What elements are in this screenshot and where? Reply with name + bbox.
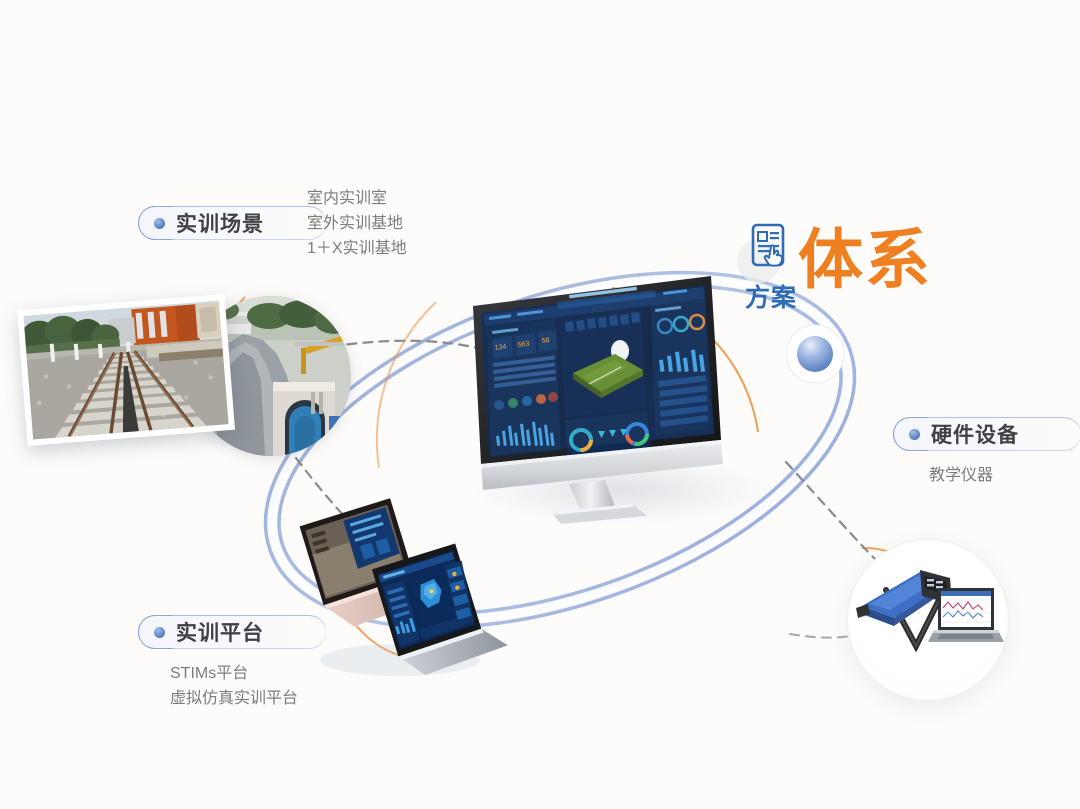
scene-photo-group bbox=[18, 288, 338, 473]
label-group-training-scene: 实训场景 bbox=[138, 206, 326, 240]
sidebar-item-training-scene[interactable]: 实训场景 bbox=[138, 206, 326, 240]
label-text: 实训平台 bbox=[176, 617, 264, 647]
label-text: 硬件设备 bbox=[931, 419, 1019, 449]
orbit-node-sphere bbox=[786, 325, 844, 383]
infographic-stage: 134 563 58 bbox=[0, 0, 1080, 809]
title-main: 体系 bbox=[798, 225, 932, 295]
label-group-training-platform: 实训平台 bbox=[138, 615, 326, 649]
label-text: 实训场景 bbox=[176, 208, 264, 238]
sub-item: 教学仪器 bbox=[929, 463, 993, 488]
sublist-training-scene: 室内实训室 室外实训基地 1＋X实训基地 bbox=[307, 186, 407, 261]
title-prefix: 方案 bbox=[745, 278, 797, 314]
sidebar-item-hardware-device[interactable]: 硬件设备 bbox=[893, 417, 1080, 451]
all-in-one-monitor: 134 563 58 bbox=[465, 268, 735, 518]
sub-item: 室内实训室 bbox=[307, 186, 407, 211]
bullet-dot bbox=[154, 218, 165, 229]
sublist-hardware-device: 教学仪器 bbox=[929, 463, 993, 488]
dual-laptop-cluster bbox=[292, 498, 502, 678]
hardware-device-circle bbox=[848, 540, 1008, 700]
railway-track-photo bbox=[17, 294, 235, 446]
page-title: 方案 体系 bbox=[735, 215, 965, 325]
sub-item: 虚拟仿真实训平台 bbox=[170, 686, 298, 711]
bullet-dot bbox=[154, 627, 165, 638]
sub-item: 室外实训基地 bbox=[307, 211, 407, 236]
tablet-click-icon bbox=[751, 223, 791, 271]
sub-item: STIMs平台 bbox=[170, 661, 298, 686]
sub-item: 1＋X实训基地 bbox=[307, 236, 407, 261]
sidebar-item-training-platform[interactable]: 实训平台 bbox=[138, 615, 326, 649]
bullet-dot bbox=[909, 429, 920, 440]
sublist-training-platform: STIMs平台 虚拟仿真实训平台 bbox=[170, 661, 298, 711]
label-group-hardware-device: 硬件设备 bbox=[893, 417, 1080, 451]
